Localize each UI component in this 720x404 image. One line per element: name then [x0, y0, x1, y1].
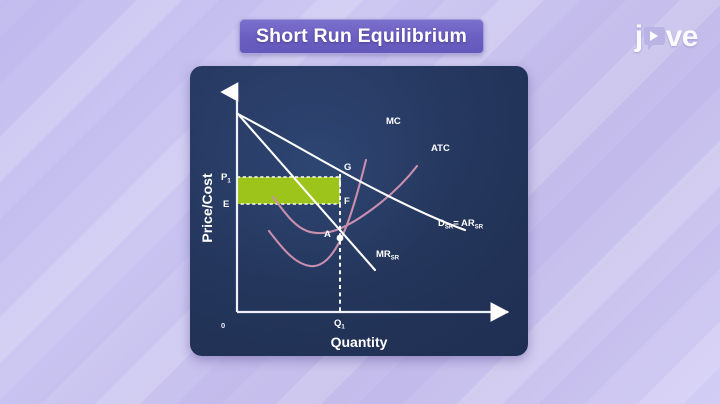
origin-label: 0: [221, 321, 225, 330]
point-label-f: F: [344, 196, 350, 207]
x-tick-q1: Q1: [334, 318, 345, 331]
speech-bubble-play-icon: [644, 27, 665, 45]
atc-label: ATC: [431, 143, 450, 154]
mc-label: MC: [386, 116, 401, 127]
economic-profit-rectangle: [237, 177, 340, 204]
page-title: Short Run Equilibrium: [256, 25, 467, 48]
logo-text-prefix: j: [635, 22, 643, 52]
slide-title-banner: Short Run Equilibrium: [239, 19, 484, 54]
chart-card: G F A P1 E Q1 0 MC ATC DSR= ARSR MRSR Qu…: [190, 66, 528, 356]
slide-canvas: Short Run Equilibrium j ve: [0, 0, 720, 404]
y-tick-p1: P1: [221, 172, 231, 185]
logo-text-suffix: ve: [666, 22, 698, 52]
y-tick-e: E: [223, 199, 229, 210]
x-axis-title: Quantity: [331, 334, 388, 350]
jove-logo: j ve: [635, 20, 698, 54]
mr-label: MRSR: [376, 249, 400, 262]
y-axis-title: Price/Cost: [199, 173, 215, 243]
point-label-a: A: [324, 229, 331, 240]
point-label-g: G: [344, 162, 351, 173]
equilibrium-point-marker: [337, 235, 344, 242]
demand-ar-label: DSR= ARSR: [438, 218, 484, 231]
